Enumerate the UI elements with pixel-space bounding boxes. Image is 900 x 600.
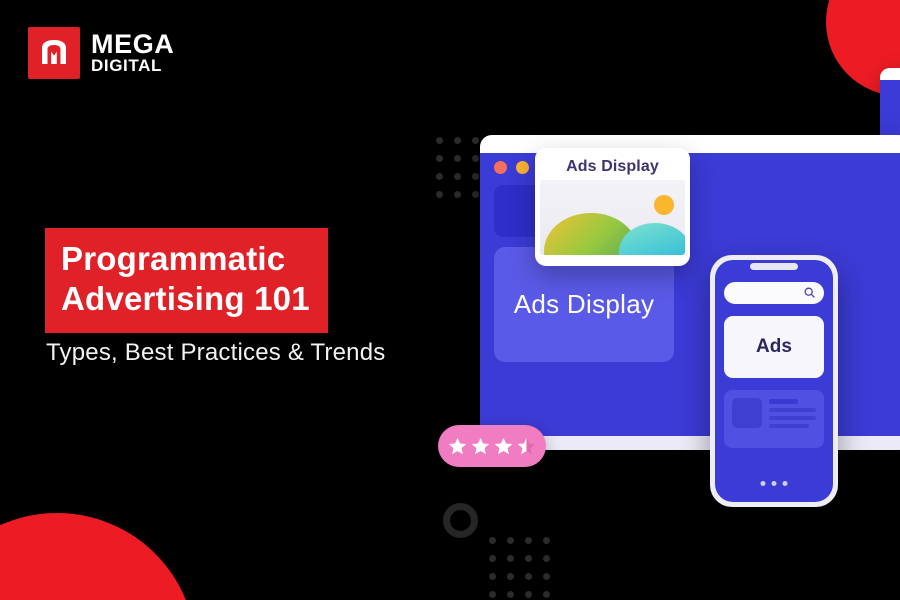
search-input[interactable] xyxy=(724,282,824,304)
page-subtitle: Types, Best Practices & Trends xyxy=(46,339,385,367)
mega-digital-m-mark-icon xyxy=(28,27,80,79)
dot-3 xyxy=(783,481,788,486)
decorative-dot xyxy=(507,591,514,598)
content-text-lines xyxy=(769,398,816,440)
decorative-dot xyxy=(525,591,532,598)
content-line-2 xyxy=(769,408,816,412)
yellow-dot-icon xyxy=(516,161,529,174)
dot-1 xyxy=(761,481,766,486)
sun-icon xyxy=(654,195,674,215)
content-thumbnail xyxy=(732,398,762,428)
ads-display-card-caption: Ads Display xyxy=(540,153,685,180)
content-line-1 xyxy=(769,399,798,404)
secondary-browser-chrome xyxy=(880,68,900,80)
search-icon xyxy=(803,286,816,304)
brand-wordmark: MEGA DIGITAL xyxy=(91,32,174,74)
phone-notch xyxy=(750,263,798,270)
hero-illustration: Ads Display Ads Display xyxy=(430,20,900,580)
phone-content-block xyxy=(724,390,824,448)
brand-name-line1: MEGA xyxy=(91,32,174,58)
dot-2 xyxy=(772,481,777,486)
secondary-browser-hero xyxy=(880,80,900,140)
star-icon-filled-1 xyxy=(447,436,468,457)
brand-logo: MEGA DIGITAL xyxy=(28,27,174,79)
red-dot-icon xyxy=(494,161,507,174)
brand-name-line2: DIGITAL xyxy=(91,58,174,74)
decorative-dot xyxy=(543,591,550,598)
page-title: Programmatic Advertising 101 xyxy=(61,239,310,320)
star-icon-half-4 xyxy=(516,436,537,457)
landscape-hills-sun-illustration-icon xyxy=(540,180,685,255)
content-line-4 xyxy=(769,424,809,428)
ads-display-popup-card: Ads Display xyxy=(535,148,690,266)
phone-screen: Ads xyxy=(715,260,833,502)
content-line-3 xyxy=(769,416,816,420)
headline-block: Programmatic Advertising 101 xyxy=(45,228,328,333)
star-icon-filled-3 xyxy=(493,436,514,457)
phone-ads-card: Ads xyxy=(724,316,824,378)
star-icon-filled-2 xyxy=(470,436,491,457)
decorative-red-circle-bottom-left xyxy=(0,513,196,600)
three-dots-icon[interactable] xyxy=(761,481,788,486)
banner-canvas: MEGA DIGITAL Programmatic Advertising 10… xyxy=(0,0,900,600)
phone-mockup: Ads xyxy=(710,255,838,507)
decorative-dot xyxy=(489,591,496,598)
status-badge-rating xyxy=(438,425,546,467)
